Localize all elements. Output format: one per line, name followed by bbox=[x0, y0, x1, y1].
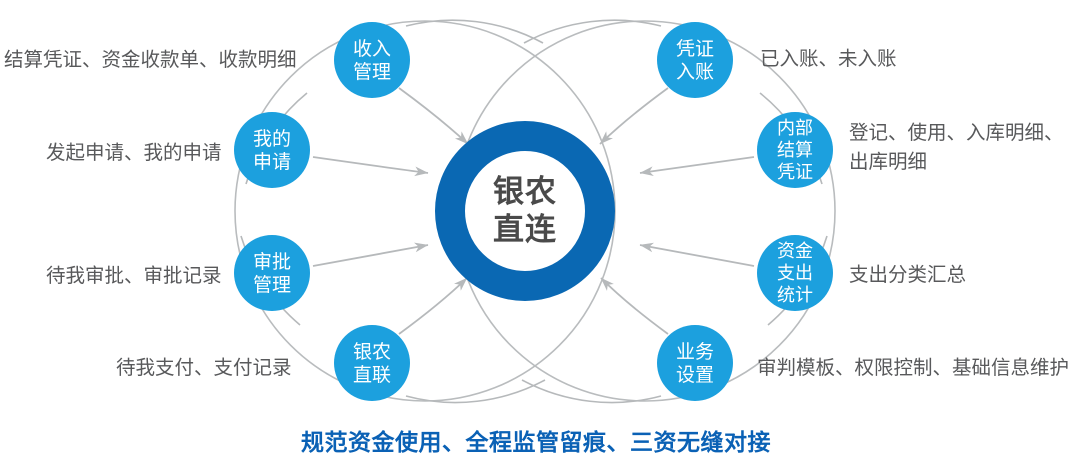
node-internal-settlement-line1: 内部 bbox=[777, 118, 813, 138]
desc-approval-management: 待我审批、审批记录 bbox=[46, 262, 222, 291]
node-approval-management-line2: 管理 bbox=[253, 274, 291, 296]
node-business-settings[interactable]: 业务 设置 bbox=[657, 325, 733, 401]
node-approval-management[interactable]: 审批 管理 bbox=[234, 235, 310, 311]
node-voucher-entry-line1: 凭证 bbox=[676, 38, 714, 60]
infographic-root: 银农 直连 收入 管理 我的 申请 审批 管理 银农 直联 凭证 bbox=[0, 0, 1072, 471]
desc-internal-settlement: 登记、使用、入库明细、出库明细 bbox=[849, 119, 1072, 177]
node-expenditure-statistics-line2: 支出 bbox=[777, 263, 813, 283]
desc-business-settings: 审判模板、权限控制、基础信息维护 bbox=[757, 354, 1069, 383]
node-expenditure-statistics-line1: 资金 bbox=[777, 241, 813, 261]
arrow-income-management bbox=[399, 88, 468, 144]
desc-income-management: 结算凭证、资金收款单、收款明细 bbox=[4, 46, 297, 75]
hub-label-line1: 银农 bbox=[493, 174, 557, 209]
background-ring-left bbox=[235, 21, 615, 401]
node-business-settings-line2: 设置 bbox=[676, 364, 714, 386]
node-voucher-entry[interactable]: 凭证 入账 bbox=[657, 22, 733, 98]
node-my-application-line1: 我的 bbox=[253, 128, 291, 150]
node-my-application-line2: 申请 bbox=[253, 151, 291, 173]
node-my-application[interactable]: 我的 申请 bbox=[234, 112, 310, 188]
arrow-business-settings bbox=[601, 278, 668, 334]
node-business-settings-line1: 业务 bbox=[676, 341, 714, 363]
arrow-my-application bbox=[313, 157, 428, 173]
connector-bottom-left-arc bbox=[406, 380, 545, 403]
node-internal-settlement[interactable]: 内部 结算 凭证 bbox=[757, 112, 833, 188]
desc-bank-direct-connect: 待我支付、支付记录 bbox=[116, 354, 292, 383]
hub-donut bbox=[450, 136, 600, 286]
desc-expenditure-statistics: 支出分类汇总 bbox=[849, 261, 966, 290]
node-approval-management-line1: 审批 bbox=[253, 251, 291, 273]
desc-voucher-entry: 已入账、未入账 bbox=[760, 45, 897, 74]
arrow-bank-direct-connect bbox=[399, 278, 467, 334]
arrow-expenditure-statistics bbox=[640, 245, 754, 266]
desc-my-application: 发起申请、我的申请 bbox=[46, 139, 222, 168]
node-internal-settlement-line2: 结算 bbox=[777, 140, 813, 160]
node-bank-direct-connect-line1: 银农 bbox=[353, 341, 391, 363]
node-bank-direct-connect[interactable]: 银农 直联 bbox=[334, 325, 410, 401]
node-income-management-line2: 管理 bbox=[353, 61, 391, 83]
node-expenditure-statistics[interactable]: 资金 支出 统计 bbox=[757, 235, 833, 311]
node-expenditure-statistics-line3: 统计 bbox=[777, 285, 813, 305]
node-internal-settlement-line3: 凭证 bbox=[777, 162, 813, 182]
hub-label-line2: 直连 bbox=[493, 212, 557, 247]
arrow-internal-settlement bbox=[640, 157, 754, 173]
node-income-management-line1: 收入 bbox=[353, 38, 391, 60]
node-voucher-entry-line2: 入账 bbox=[676, 61, 714, 83]
arrow-approval-management bbox=[313, 245, 428, 266]
connector-bottom-right-arc bbox=[522, 380, 661, 403]
arrow-voucher-entry bbox=[600, 88, 668, 144]
connector-top-left-arc bbox=[406, 20, 543, 43]
connector-top-right-arc bbox=[524, 20, 661, 43]
node-income-management[interactable]: 收入 管理 bbox=[334, 22, 410, 98]
background-ring-right bbox=[455, 21, 835, 401]
node-bank-direct-connect-line2: 直联 bbox=[353, 364, 391, 386]
footer-caption: 规范资金使用、全程监管留痕、三资无缝对接 bbox=[0, 423, 1072, 457]
